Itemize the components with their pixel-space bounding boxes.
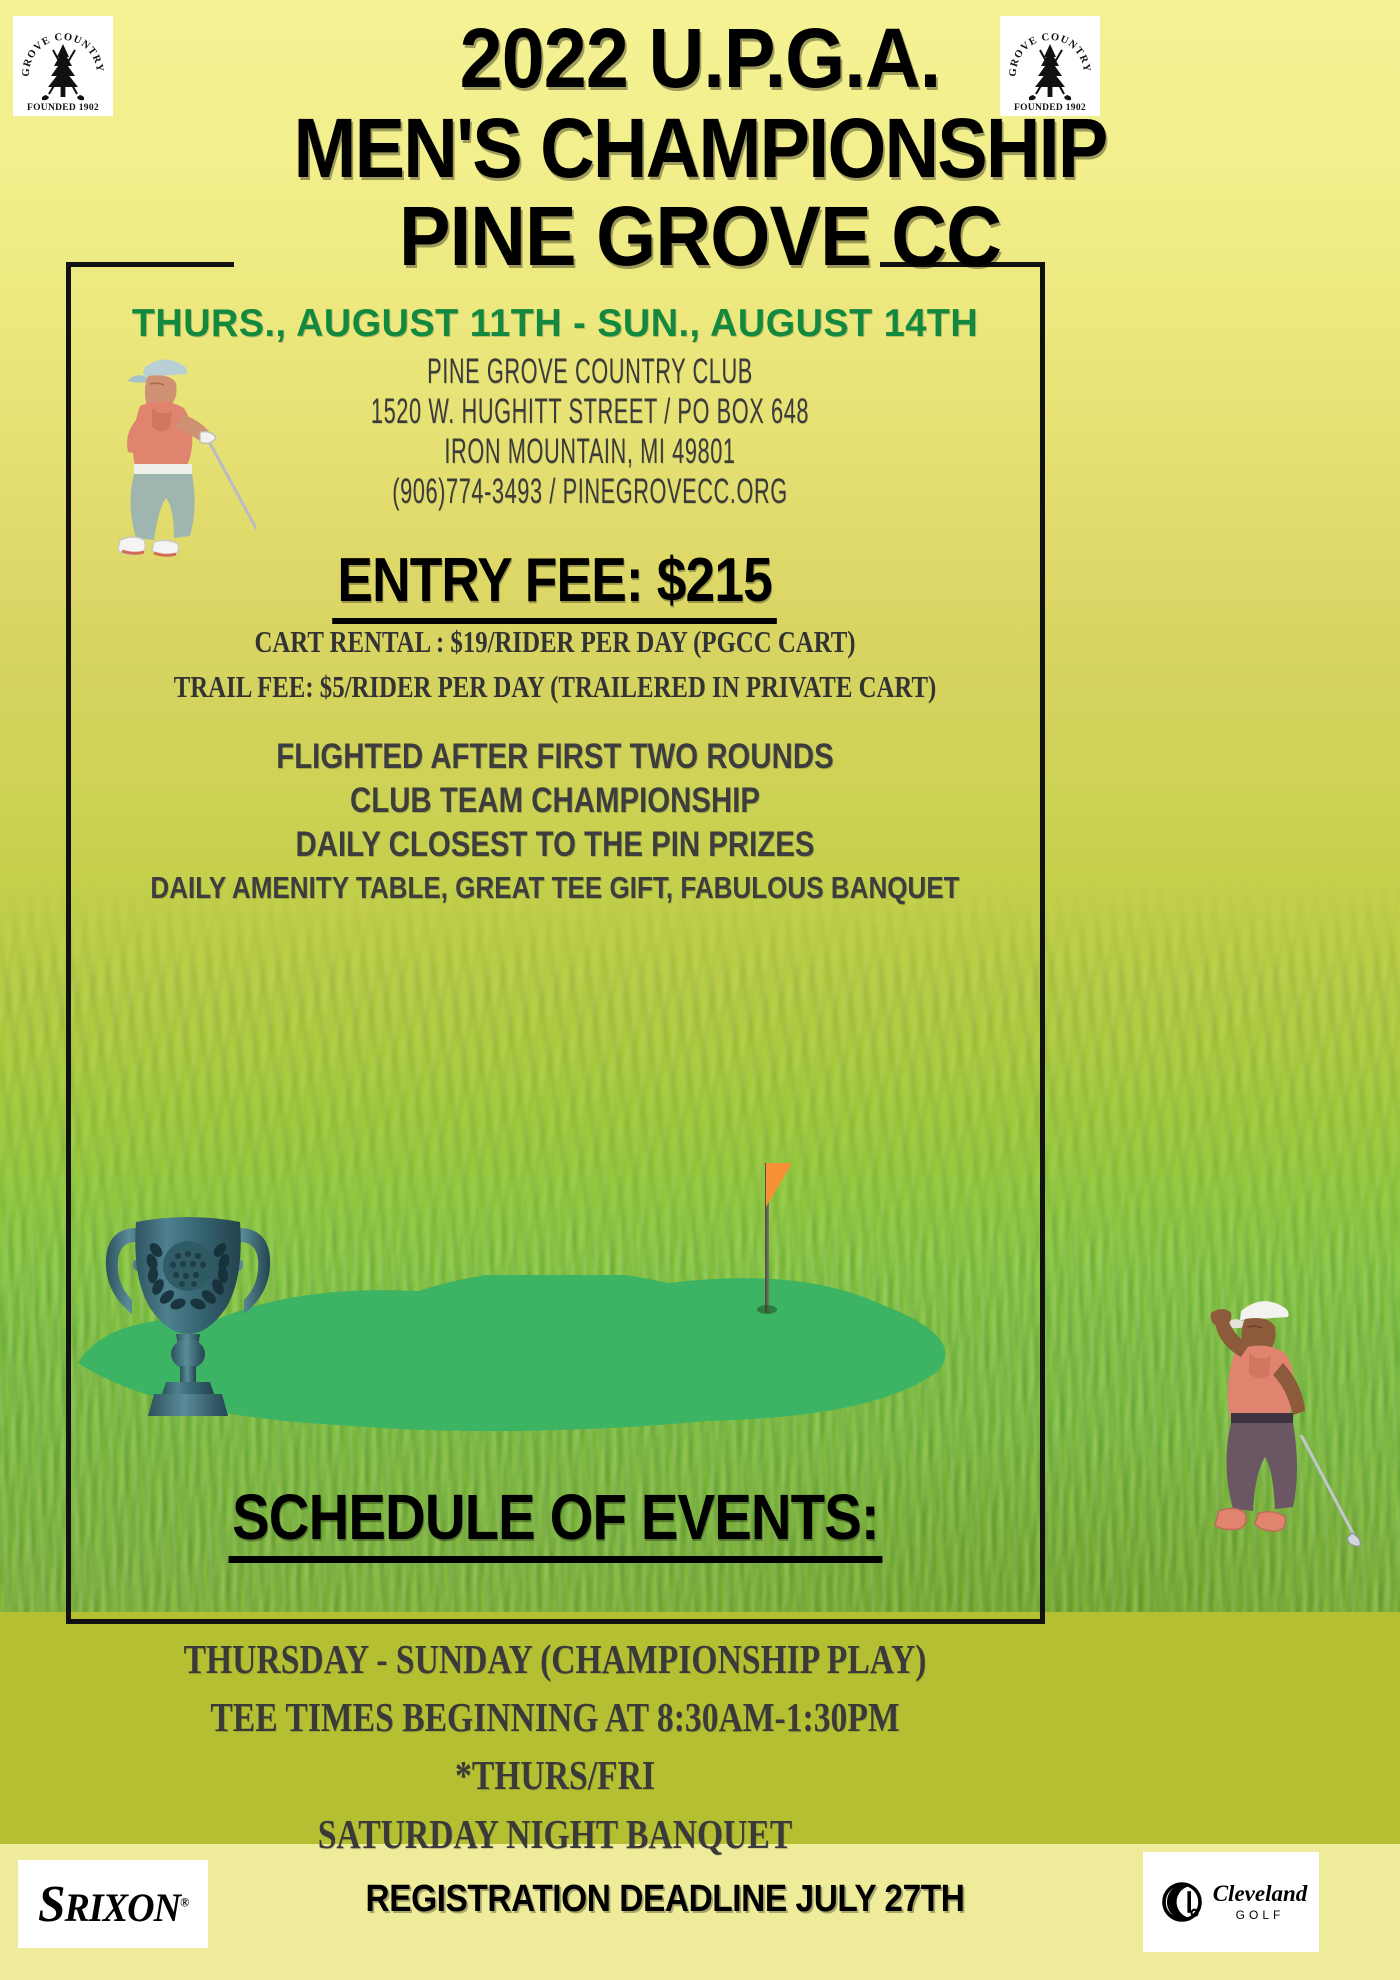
flag-icon (766, 1163, 792, 1207)
schedule-item: TEE TIMES BEGINNING AT 8:30AM-1:30PM *TH… (133, 1688, 978, 1804)
srixon-rest: RIXON (64, 1885, 180, 1930)
page-title: 2022 U.P.G.A. MEN'S CHAMPIONSHIP PINE GR… (0, 18, 1400, 280)
address-line-venue: PINE GROVE COUNTRY CLUB (317, 352, 863, 392)
cleveland-golf-label: GOLF (1236, 1908, 1285, 1922)
address-line-contact: (906)774-3493 / PINEGROVECC.ORG (317, 472, 863, 512)
entry-fee-heading: ENTRY FEE: $215 (70, 545, 1040, 624)
fee-details: CART RENTAL : $19/RIDER PER DAY (PGCC CA… (70, 620, 1040, 710)
sponsor-logo-cleveland-golf: Cleveland GOLF (1143, 1852, 1319, 1952)
feature-item: DAILY CLOSEST TO THE PIN PRIZES (148, 823, 963, 867)
fee-line-trail-fee: TRAIL FEE: $5/RIDER PER DAY (TRAILERED I… (167, 665, 943, 710)
address-line-city: IRON MOUNTAIN, MI 49801 (317, 432, 863, 472)
venue-address-block: PINE GROVE COUNTRY CLUB 1520 W. HUGHITT … (150, 352, 1030, 512)
cleveland-c-mark-icon (1155, 1875, 1209, 1929)
schedule-heading: SCHEDULE OF EVENTS: (70, 1480, 1040, 1563)
schedule-list: THURSDAY - SUNDAY (CHAMPIONSHIP PLAY) TE… (40, 1630, 1070, 1863)
feature-item: DAILY AMENITY TABLE, GREAT TEE GIFT, FAB… (148, 868, 963, 907)
frame-line-left (66, 262, 71, 1624)
entry-fee-text: ENTRY FEE: $215 (333, 545, 778, 624)
title-line-3: PINE GROVE CC (56, 194, 1344, 280)
title-line-1: 2022 U.P.G.A. (56, 18, 1344, 99)
golfer-celebrating-illustration (1205, 1285, 1380, 1585)
feature-item: CLUB TEAM CHAMPIONSHIP (148, 779, 963, 823)
registered-mark-icon: ® (180, 1894, 188, 1909)
cleveland-wordmark: Cleveland GOLF (1213, 1882, 1308, 1922)
schedule-item: THURSDAY - SUNDAY (CHAMPIONSHIP PLAY) (133, 1630, 978, 1688)
fee-line-cart-rental: CART RENTAL : $19/RIDER PER DAY (PGCC CA… (167, 620, 943, 665)
tournament-features-list: FLIGHTED AFTER FIRST TWO ROUNDS CLUB TEA… (70, 735, 1040, 907)
address-line-street: 1520 W. HUGHITT STREET / PO BOX 648 (317, 392, 863, 432)
title-line-2: MEN'S CHAMPIONSHIP (70, 105, 1330, 192)
tournament-flyer: PINE GROVE COUNTRY CLUB FOUNDED 1902 (0, 0, 1400, 1980)
schedule-heading-text: SCHEDULE OF EVENTS: (228, 1480, 882, 1563)
registration-deadline: REGISTRATION DEADLINE JULY 27TH (300, 1878, 1030, 1921)
event-dateline: THURS., AUGUST 11TH - SUN., AUGUST 14TH (85, 302, 1026, 346)
frame-line-right (1040, 262, 1045, 1624)
srixon-wordmark: SRIXON® (38, 1875, 188, 1934)
sponsor-logo-srixon: SRIXON® (18, 1860, 208, 1948)
trophy-illustration (88, 1188, 288, 1418)
cleveland-name: Cleveland (1213, 1882, 1308, 1905)
srixon-initial: S (38, 1876, 65, 1933)
feature-item: FLIGHTED AFTER FIRST TWO ROUNDS (148, 735, 963, 779)
schedule-item: SATURDAY NIGHT BANQUET (133, 1805, 978, 1863)
golf-hole (757, 1305, 777, 1314)
frame-line-bottom (66, 1619, 1045, 1624)
